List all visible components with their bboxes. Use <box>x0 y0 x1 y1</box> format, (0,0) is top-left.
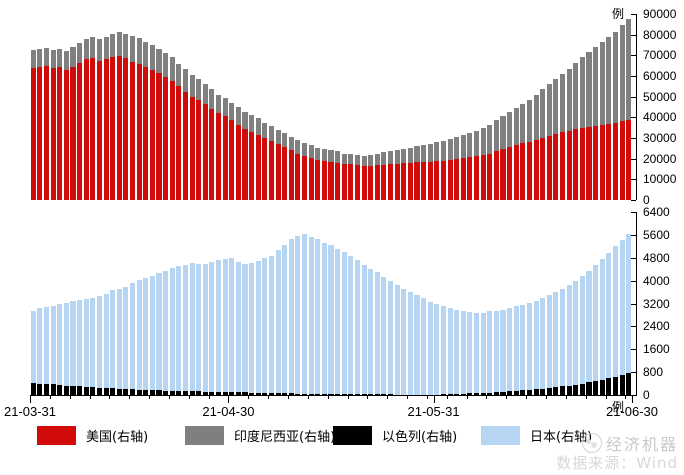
bar-top-62 <box>441 141 446 200</box>
bar-segment-印度尼西亚(右轴) <box>143 42 148 67</box>
x-tick-minor-75 <box>526 395 527 399</box>
bar-segment-印度尼西亚(右轴) <box>183 69 188 92</box>
bar-segment-美国(右轴) <box>500 149 505 200</box>
bar-bottom-77 <box>540 298 545 395</box>
bar-segment-日本(右轴) <box>236 262 241 392</box>
bar-segment-日本(右轴) <box>117 289 122 389</box>
bar-segment-印度尼西亚(右轴) <box>401 149 406 162</box>
bar-segment-印度尼西亚(右轴) <box>322 149 327 160</box>
x-tick-minor-48 <box>348 395 349 399</box>
bar-segment-以色列(右轴) <box>547 388 552 395</box>
bar-bottom-60 <box>428 302 433 395</box>
bar-top-81 <box>567 69 572 200</box>
bar-segment-日本(右轴) <box>348 256 353 394</box>
bar-segment-美国(右轴) <box>295 154 300 201</box>
y-tick-label-top-20000: 20000 <box>643 154 676 164</box>
bar-segment-印度尼西亚(右轴) <box>123 34 128 59</box>
bar-segment-日本(右轴) <box>31 311 36 382</box>
bar-top-82 <box>573 63 578 200</box>
bar-segment-美国(右轴) <box>183 92 188 201</box>
bar-segment-美国(右轴) <box>560 132 565 200</box>
x-tick-minor-36 <box>268 395 269 399</box>
bar-segment-印度尼西亚(右轴) <box>163 53 168 77</box>
y-tick-top-60000 <box>631 76 636 77</box>
bar-segment-日本(右轴) <box>395 285 400 394</box>
bar-segment-日本(右轴) <box>494 311 499 393</box>
bar-segment-日本(右轴) <box>401 289 406 395</box>
bar-segment-日本(右轴) <box>130 283 135 389</box>
bar-segment-以色列(右轴) <box>586 382 591 395</box>
bar-top-16 <box>137 38 142 200</box>
bar-segment-美国(右轴) <box>620 121 625 200</box>
bar-segment-美国(右轴) <box>176 86 181 200</box>
bar-segment-印度尼西亚(右轴) <box>586 52 591 126</box>
bar-segment-日本(右轴) <box>322 243 327 394</box>
bar-segment-美国(右轴) <box>342 164 347 200</box>
bar-top-2 <box>44 48 49 200</box>
x-tick-minor-18 <box>149 395 150 399</box>
bar-bottom-62 <box>441 306 446 395</box>
bar-segment-美国(右轴) <box>51 68 56 200</box>
bar-segment-印度尼西亚(右轴) <box>262 123 267 139</box>
x-tick-minor-72 <box>506 395 507 399</box>
bar-segment-日本(右轴) <box>593 265 598 381</box>
bar-segment-印度尼西亚(右轴) <box>328 150 333 161</box>
bar-top-23 <box>183 69 188 200</box>
bar-top-40 <box>295 140 300 200</box>
y-tick-label-top-50000: 50000 <box>643 92 676 102</box>
bar-bottom-56 <box>401 289 406 395</box>
bar-bottom-83 <box>580 276 585 395</box>
bar-bottom-5 <box>64 303 69 395</box>
bar-segment-以色列(右轴) <box>44 384 49 395</box>
bar-segment-美国(右轴) <box>580 128 585 200</box>
bar-bottom-23 <box>183 265 188 395</box>
bar-segment-日本(右轴) <box>229 258 234 392</box>
bar-segment-印度尼西亚(右轴) <box>64 51 69 70</box>
bar-segment-以色列(右轴) <box>84 387 89 395</box>
bar-segment-印度尼西亚(右轴) <box>117 32 122 57</box>
bar-segment-印度尼西亚(右轴) <box>156 49 161 73</box>
bar-segment-印度尼西亚(右轴) <box>428 144 433 162</box>
chart-panel-bottom: 例 <box>0 200 684 400</box>
bar-bottom-49 <box>355 260 360 395</box>
bar-bottom-1 <box>37 308 42 395</box>
source-note: 数据来源：Wind <box>556 452 678 473</box>
bar-segment-印度尼西亚(右轴) <box>540 89 545 138</box>
bar-bottom-75 <box>527 303 532 395</box>
bar-bottom-6 <box>70 301 75 395</box>
bar-top-71 <box>500 116 505 200</box>
bar-top-9 <box>90 37 95 200</box>
bar-segment-以色列(右轴) <box>573 385 578 395</box>
bar-segment-以色列(右轴) <box>77 386 82 395</box>
bar-top-48 <box>348 154 353 201</box>
bar-segment-以色列(右轴) <box>31 383 36 395</box>
bar-segment-日本(右轴) <box>104 294 109 388</box>
bar-bottom-65 <box>461 311 466 395</box>
y-tick-top-30000 <box>631 138 636 139</box>
bar-segment-日本(右轴) <box>620 240 625 375</box>
bar-segment-印度尼西亚(右轴) <box>381 152 386 164</box>
bar-bottom-36 <box>269 256 274 395</box>
legend-item-3[interactable]: 日本(右轴) <box>481 424 592 446</box>
bar-bottom-88 <box>613 246 618 395</box>
bar-segment-美国(右轴) <box>606 124 611 200</box>
bar-segment-印度尼西亚(右轴) <box>474 131 479 156</box>
y-tick-top-40000 <box>631 117 636 118</box>
bar-segment-美国(右轴) <box>269 141 274 200</box>
bar-segment-印度尼西亚(右轴) <box>190 75 195 97</box>
y-tick-label-top-90000: 90000 <box>643 9 676 19</box>
bar-segment-日本(右轴) <box>573 281 578 385</box>
bar-top-26 <box>203 84 208 200</box>
bar-bottom-85 <box>593 265 598 395</box>
bar-segment-印度尼西亚(右轴) <box>97 39 102 61</box>
bar-top-7 <box>77 43 82 200</box>
bar-segment-日本(右轴) <box>586 271 591 383</box>
bar-segment-印度尼西亚(右轴) <box>368 155 373 166</box>
bar-top-61 <box>434 142 439 200</box>
bar-segment-美国(右轴) <box>163 77 168 200</box>
bar-bottom-63 <box>448 308 453 395</box>
y-tick-top-90000 <box>631 14 636 15</box>
bar-bottom-52 <box>375 272 380 395</box>
bar-segment-美国(右轴) <box>586 127 591 200</box>
bar-segment-美国(右轴) <box>335 163 340 200</box>
bar-bottom-35 <box>262 258 267 395</box>
bar-bottom-29 <box>223 259 228 395</box>
bar-segment-印度尼西亚(右轴) <box>302 143 307 155</box>
bar-segment-美国(右轴) <box>507 147 512 200</box>
legend-label-2: 以色列(右轴) <box>382 426 457 445</box>
bar-segment-印度尼西亚(右轴) <box>494 120 499 151</box>
bar-segment-日本(右轴) <box>580 276 585 384</box>
bar-top-83 <box>580 57 585 200</box>
bar-segment-日本(右轴) <box>520 305 525 391</box>
bar-bottom-31 <box>236 262 241 395</box>
legend-item-2[interactable]: 以色列(右轴) <box>333 424 457 446</box>
x-tick-minor-90 <box>625 395 626 399</box>
chart-legend: 美国(右轴)印度尼西亚(右轴)以色列(右轴)日本(右轴) <box>0 424 684 450</box>
bar-bottom-73 <box>514 306 519 395</box>
bar-segment-日本(右轴) <box>289 239 294 393</box>
bar-top-17 <box>143 42 148 200</box>
bar-segment-美国(右轴) <box>600 125 605 200</box>
bar-segment-印度尼西亚(右轴) <box>434 142 439 161</box>
bar-segment-日本(右轴) <box>64 303 69 386</box>
bar-segment-美国(右轴) <box>143 67 148 200</box>
bar-segment-日本(右轴) <box>209 262 214 391</box>
bar-segment-日本(右轴) <box>57 304 62 385</box>
bar-segment-印度尼西亚(右轴) <box>547 84 552 136</box>
bar-segment-美国(右轴) <box>348 164 353 200</box>
bar-bottom-72 <box>507 308 512 395</box>
bar-segment-美国(右轴) <box>434 161 439 200</box>
bar-segment-日本(右轴) <box>262 258 267 392</box>
bar-segment-日本(右轴) <box>414 295 419 395</box>
bar-segment-日本(右轴) <box>527 303 532 390</box>
bar-segment-美国(右轴) <box>454 159 459 200</box>
bar-segment-印度尼西亚(右轴) <box>44 48 49 66</box>
bar-bottom-58 <box>414 295 419 395</box>
bar-segment-美国(右轴) <box>223 116 228 200</box>
bar-bottom-32 <box>242 264 247 395</box>
bar-bottom-19 <box>156 273 161 395</box>
bar-segment-以色列(右轴) <box>560 386 565 395</box>
x-tick-minor-6 <box>70 395 71 399</box>
bar-bottom-11 <box>104 294 109 396</box>
bar-segment-日本(右轴) <box>196 264 201 391</box>
bar-segment-日本(右轴) <box>500 310 505 392</box>
bar-top-11 <box>104 37 109 200</box>
bar-segment-日本(右轴) <box>613 246 618 376</box>
bar-segment-日本(右轴) <box>282 245 287 394</box>
x-tick-minor-57 <box>407 395 408 399</box>
bar-segment-美国(右轴) <box>461 158 466 200</box>
bar-bottom-69 <box>487 311 492 395</box>
bar-bottom-53 <box>381 277 386 395</box>
bar-top-6 <box>70 47 75 200</box>
x-axis-label-1: 21-04-30 <box>202 404 254 419</box>
bar-top-53 <box>381 152 386 200</box>
bar-segment-美国(右轴) <box>97 61 102 201</box>
bar-segment-印度尼西亚(右轴) <box>70 47 75 67</box>
y-tick-top-10000 <box>631 179 636 180</box>
y-tick-label-bottom-800: 800 <box>643 367 663 377</box>
bar-segment-以色列(右轴) <box>51 384 56 395</box>
bar-segment-美国(右轴) <box>368 166 373 200</box>
bar-bottom-26 <box>203 264 208 395</box>
bar-segment-印度尼西亚(右轴) <box>295 140 300 153</box>
bar-segment-日本(右轴) <box>507 308 512 391</box>
legend-label-3: 日本(右轴) <box>530 426 592 445</box>
bar-bottom-82 <box>573 281 578 395</box>
bar-segment-印度尼西亚(右轴) <box>620 25 625 121</box>
legend-item-0[interactable]: 美国(右轴) <box>37 424 148 446</box>
bar-top-39 <box>289 137 294 200</box>
bar-top-90 <box>626 19 631 200</box>
bar-segment-日本(右轴) <box>203 264 208 392</box>
bar-segment-印度尼西亚(右轴) <box>216 95 221 114</box>
bar-segment-美国(右轴) <box>401 163 406 200</box>
bar-segment-美国(右轴) <box>196 100 201 200</box>
bar-segment-美国(右轴) <box>474 156 479 200</box>
bar-bottom-22 <box>176 266 181 395</box>
bar-segment-印度尼西亚(右轴) <box>500 116 505 149</box>
bar-segment-美国(右轴) <box>44 66 49 200</box>
bar-top-52 <box>375 154 380 201</box>
legend-swatch-icon-1 <box>185 426 224 445</box>
bar-top-37 <box>276 130 281 200</box>
bar-bottom-74 <box>520 305 525 395</box>
bar-segment-日本(右轴) <box>216 260 221 392</box>
bar-segment-印度尼西亚(右轴) <box>573 63 578 129</box>
bar-top-19 <box>156 49 161 200</box>
bar-segment-印度尼西亚(右轴) <box>315 148 320 159</box>
bar-top-54 <box>388 151 393 200</box>
bar-segment-以色列(右轴) <box>37 384 42 395</box>
y-tick-label-bottom-6400: 6400 <box>643 207 670 217</box>
bar-segment-日本(右轴) <box>249 263 254 392</box>
bar-segment-日本(右轴) <box>183 265 188 391</box>
bar-segment-美国(右轴) <box>117 56 122 200</box>
bar-segment-日本(右轴) <box>560 289 565 387</box>
legend-item-1[interactable]: 印度尼西亚(右轴) <box>185 424 335 446</box>
x-tick-minor-33 <box>248 395 249 399</box>
bar-top-21 <box>170 57 175 200</box>
bar-bottom-37 <box>276 250 281 395</box>
bar-segment-美国(右轴) <box>481 155 486 200</box>
x-tick-minor-12 <box>109 395 110 399</box>
y-tick-bottom-4000 <box>631 281 636 282</box>
bar-segment-美国(右轴) <box>209 109 214 200</box>
bar-bottom-44 <box>322 243 327 395</box>
y-tick-top-20000 <box>631 159 636 160</box>
bar-segment-以色列(右轴) <box>97 388 102 395</box>
x-axis-label-2: 21-05-31 <box>408 404 460 419</box>
bar-segment-日本(右轴) <box>474 313 479 394</box>
bar-segment-印度尼西亚(右轴) <box>236 107 241 125</box>
bar-segment-日本(右轴) <box>156 273 161 390</box>
y-tick-top-50000 <box>631 97 636 98</box>
bar-segment-日本(右轴) <box>70 301 75 386</box>
bar-segment-美国(右轴) <box>553 134 558 200</box>
legend-swatch-icon-2 <box>333 426 372 445</box>
bar-bottom-79 <box>553 292 558 395</box>
bar-segment-印度尼西亚(右轴) <box>57 49 62 67</box>
bar-segment-美国(右轴) <box>362 166 367 200</box>
bar-segment-美国(右轴) <box>567 131 572 200</box>
bar-segment-美国(右轴) <box>547 136 552 200</box>
bar-bottom-4 <box>57 304 62 395</box>
plot-area-top <box>30 14 632 200</box>
bar-bottom-0 <box>31 311 36 395</box>
bar-segment-日本(右轴) <box>454 310 459 394</box>
bar-top-77 <box>540 89 545 200</box>
bar-top-33 <box>249 115 254 200</box>
bar-segment-以色列(右轴) <box>620 375 625 395</box>
bar-segment-印度尼西亚(右轴) <box>31 50 36 68</box>
bar-bottom-46 <box>335 249 340 395</box>
bar-bottom-86 <box>600 259 605 395</box>
bar-top-12 <box>110 34 115 200</box>
bar-segment-印度尼西亚(右轴) <box>454 137 459 159</box>
x-tick-minor-45 <box>328 395 329 399</box>
bar-segment-美国(右轴) <box>309 158 314 200</box>
bar-segment-印度尼西亚(右轴) <box>362 156 367 166</box>
bar-segment-美国(右轴) <box>123 58 128 200</box>
bar-bottom-81 <box>567 285 572 395</box>
bar-segment-日本(右轴) <box>362 265 367 394</box>
bar-segment-日本(右轴) <box>481 313 486 393</box>
bar-segment-美国(右轴) <box>203 104 208 200</box>
y-tick-label-bottom-3200: 3200 <box>643 299 670 309</box>
y-tick-label-top-10000: 10000 <box>643 174 676 184</box>
bar-bottom-67 <box>474 313 479 395</box>
bar-bottom-16 <box>137 280 142 395</box>
bar-segment-印度尼西亚(右轴) <box>170 57 175 81</box>
bar-segment-日本(右轴) <box>123 287 128 389</box>
bar-segment-印度尼西亚(右轴) <box>77 43 82 63</box>
bar-top-10 <box>97 39 102 200</box>
bar-segment-印度尼西亚(右轴) <box>467 133 472 157</box>
bar-segment-美国(右轴) <box>156 73 161 200</box>
bar-segment-以色列(右轴) <box>57 385 62 395</box>
bar-bottom-59 <box>421 298 426 395</box>
bar-segment-美国(右轴) <box>256 135 261 200</box>
bar-segment-印度尼西亚(右轴) <box>388 151 393 163</box>
bar-segment-以色列(右轴) <box>90 387 95 395</box>
bar-top-15 <box>130 36 135 200</box>
x-tick-minor-51 <box>367 395 368 399</box>
bar-top-80 <box>560 74 565 200</box>
bar-segment-日本(右轴) <box>302 234 307 394</box>
bar-segment-印度尼西亚(右轴) <box>553 79 558 134</box>
bar-bottom-18 <box>150 276 155 395</box>
bar-top-87 <box>606 37 611 200</box>
bar-segment-美国(右轴) <box>216 113 221 200</box>
bar-segment-印度尼西亚(右轴) <box>137 38 142 64</box>
bar-top-25 <box>196 79 201 200</box>
bar-top-8 <box>84 39 89 200</box>
bar-bottom-78 <box>547 295 552 395</box>
bar-segment-日本(右轴) <box>276 250 281 393</box>
y-tick-label-top-60000: 60000 <box>643 71 676 81</box>
bar-segment-美国(右轴) <box>110 57 115 200</box>
y-tick-label-bottom-4800: 4800 <box>643 253 670 263</box>
x-tick-minor-9 <box>90 395 91 399</box>
bar-segment-印度尼西亚(右轴) <box>600 42 605 125</box>
bar-bottom-28 <box>216 260 221 395</box>
bar-bottom-87 <box>606 253 611 395</box>
bar-segment-印度尼西亚(右轴) <box>375 154 380 165</box>
x-tick-minor-54 <box>387 395 388 399</box>
chart-panel-top: 例 <box>0 0 684 205</box>
x-tick-minor-15 <box>129 395 130 399</box>
bar-top-73 <box>514 108 519 200</box>
bar-segment-印度尼西亚(右轴) <box>110 34 115 58</box>
bar-bottom-9 <box>90 298 95 395</box>
bar-segment-美国(右轴) <box>77 63 82 200</box>
bar-segment-日本(右轴) <box>421 298 426 395</box>
bar-segment-美国(右轴) <box>84 59 89 200</box>
bar-segment-印度尼西亚(右轴) <box>242 112 247 129</box>
bar-top-86 <box>600 42 605 200</box>
bar-segment-日本(右轴) <box>44 307 49 384</box>
bar-segment-日本(右轴) <box>256 261 261 393</box>
bar-top-69 <box>487 125 492 200</box>
bar-segment-美国(右轴) <box>57 67 62 200</box>
bar-segment-日本(右轴) <box>137 280 142 389</box>
y-tick-label-bottom-4000: 4000 <box>643 276 670 286</box>
bar-segment-印度尼西亚(右轴) <box>256 118 261 135</box>
bar-bottom-15 <box>130 283 135 395</box>
bar-segment-日本(右轴) <box>534 301 539 390</box>
bar-segment-印度尼西亚(右轴) <box>395 150 400 163</box>
bar-segment-印度尼西亚(右轴) <box>487 125 492 154</box>
bar-top-70 <box>494 120 499 200</box>
bar-segment-美国(右轴) <box>302 156 307 200</box>
bar-segment-日本(右轴) <box>163 271 168 391</box>
bar-segment-印度尼西亚(右轴) <box>348 154 353 164</box>
bar-segment-以色列(右轴) <box>104 388 109 395</box>
bar-top-20 <box>163 53 168 200</box>
bar-segment-印度尼西亚(右轴) <box>269 126 274 142</box>
bar-segment-美国(右轴) <box>289 150 294 200</box>
bar-segment-日本(右轴) <box>368 269 373 395</box>
bar-segment-美国(右轴) <box>137 64 142 200</box>
